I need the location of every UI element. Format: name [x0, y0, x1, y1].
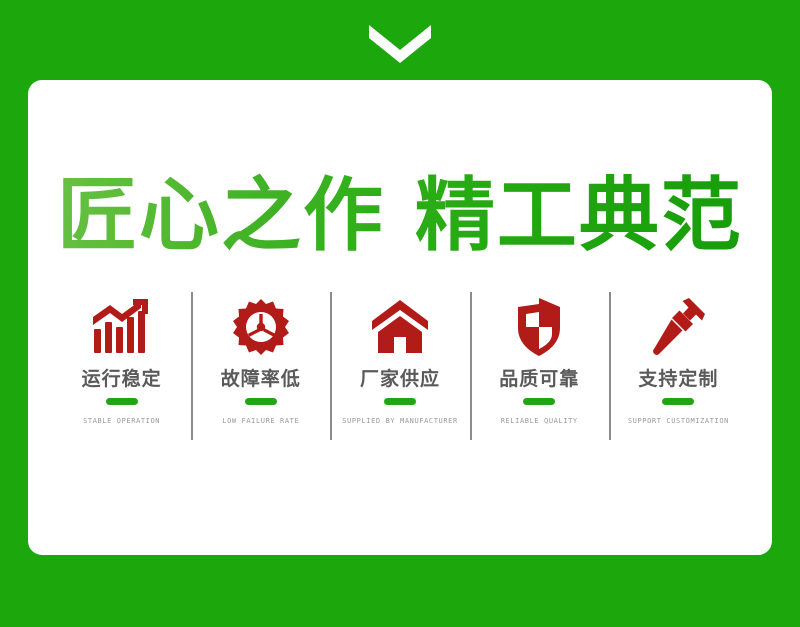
- top-chevron-marker: [0, 24, 800, 64]
- feature-row: 运行稳定 STABLE OPERATION: [52, 292, 748, 442]
- chevron-down-icon: [369, 25, 431, 63]
- feature-divider-dash: [245, 398, 277, 405]
- content-card: 匠心之作 精工典范 运行稳定 STABLE: [28, 80, 772, 555]
- gear-icon: [233, 296, 289, 358]
- feature-subtitle: LOW FAILURE RATE: [222, 416, 299, 426]
- feature-item-support-customization[interactable]: 支持定制 SUPPORT CUSTOMIZATION: [609, 292, 748, 442]
- feature-divider-dash: [662, 398, 694, 405]
- growth-chart-icon: [92, 296, 152, 358]
- feature-item-reliable-quality[interactable]: 品质可靠 RELIABLE QUALITY: [470, 292, 609, 442]
- feature-subtitle: SUPPORT CUSTOMIZATION: [628, 416, 729, 426]
- feature-divider-dash: [106, 398, 138, 405]
- feature-subtitle: RELIABLE QUALITY: [501, 416, 578, 426]
- feature-divider-dash: [523, 398, 555, 405]
- feature-item-stable-operation[interactable]: 运行稳定 STABLE OPERATION: [52, 292, 191, 442]
- feature-title: 品质可靠: [499, 368, 579, 390]
- feature-item-low-failure-rate[interactable]: 故障率低 LOW FAILURE RATE: [191, 292, 330, 442]
- feature-item-supplied-by-manufacturer[interactable]: 厂家供应 SUPPLIED BY MANUFACTURER: [330, 292, 469, 442]
- feature-title: 运行稳定: [82, 368, 162, 390]
- feature-title: 故障率低: [221, 368, 301, 390]
- feature-title: 支持定制: [638, 368, 718, 390]
- feature-divider-dash: [384, 398, 416, 405]
- feature-title: 厂家供应: [360, 368, 440, 390]
- feature-subtitle: SUPPLIED BY MANUFACTURER: [342, 416, 458, 426]
- shield-icon: [514, 296, 564, 358]
- hammer-icon: [649, 296, 707, 358]
- factory-house-icon: [370, 296, 430, 358]
- feature-subtitle: STABLE OPERATION: [83, 416, 160, 426]
- page-title: 匠心之作 精工典范: [28, 168, 772, 264]
